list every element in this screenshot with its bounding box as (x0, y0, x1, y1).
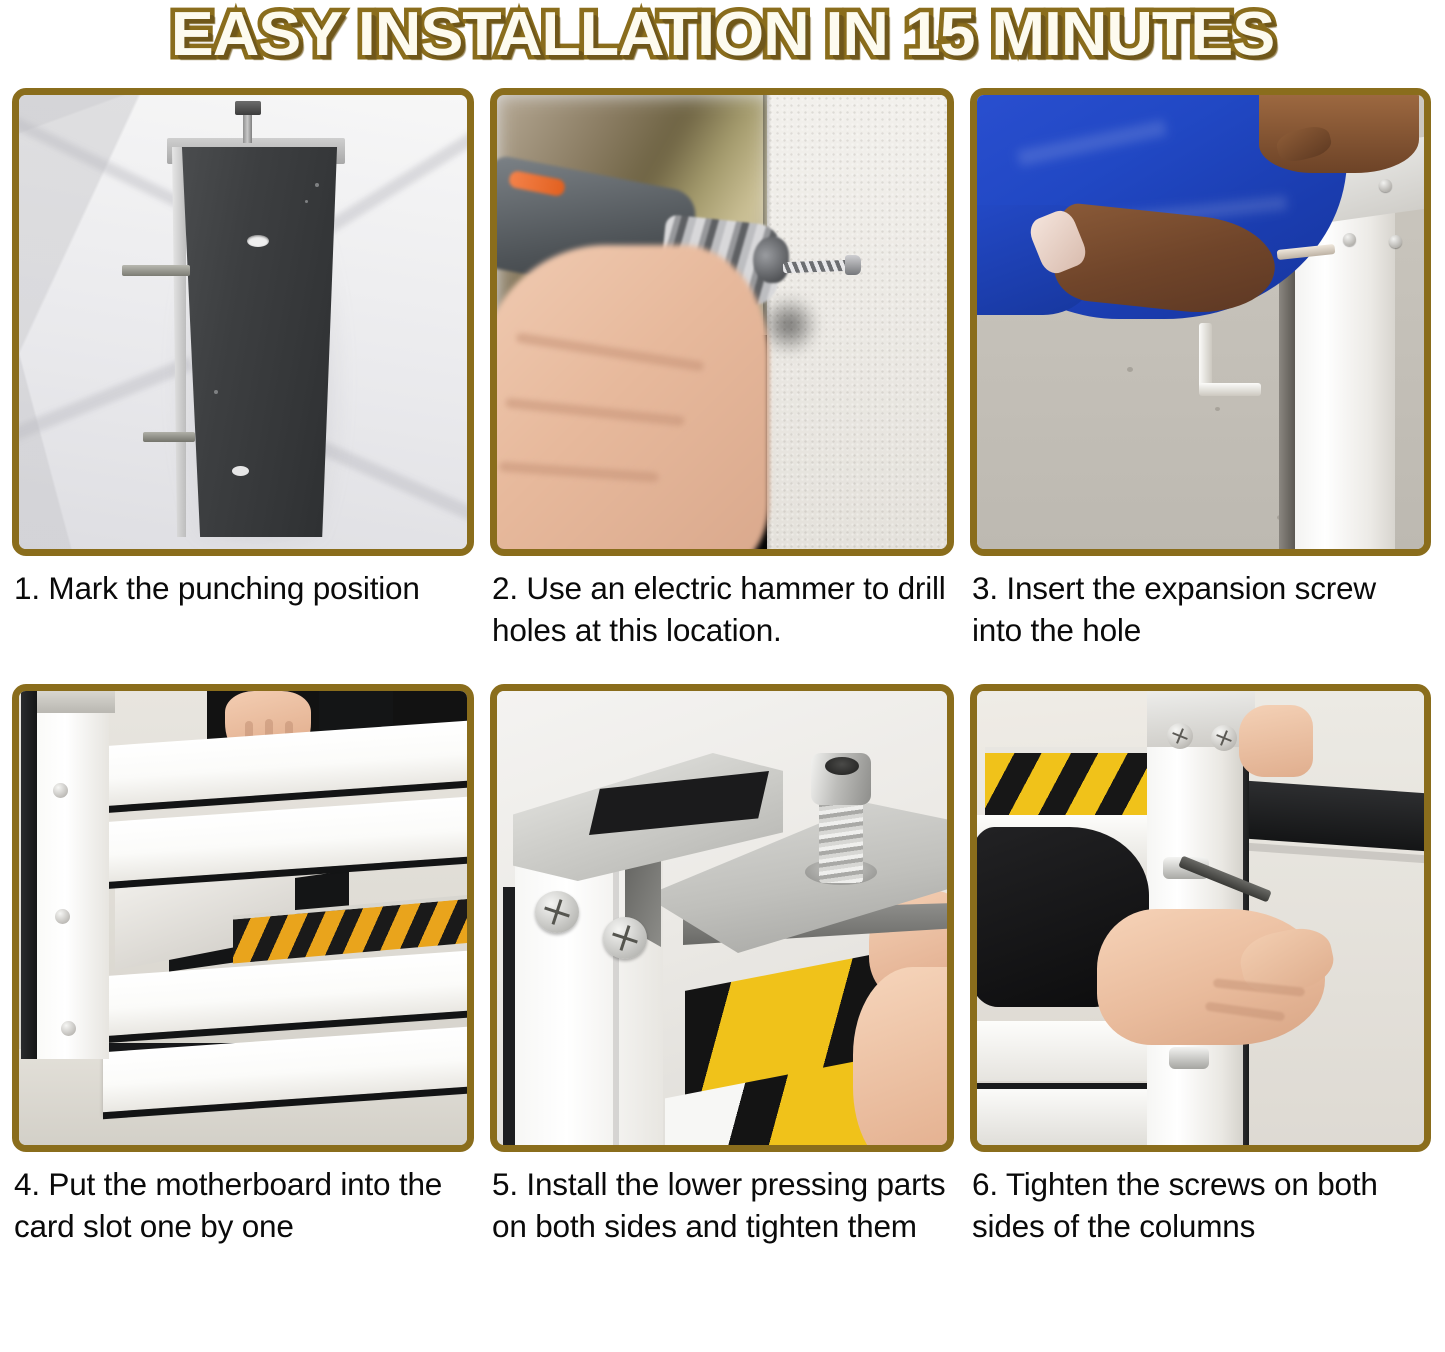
step-caption-5: 5. Install the lower pressing parts on b… (490, 1152, 954, 1247)
step-photo-frame-1 (12, 88, 474, 556)
step-card-1: 1. Mark the punching position (4, 88, 482, 684)
step-photo-2 (497, 95, 947, 549)
step-caption-3: 3. Insert the expansion screw into the h… (970, 556, 1431, 651)
step-card-5: 5. Install the lower pressing parts on b… (482, 684, 962, 1247)
step-card-3: 3. Insert the expansion screw into the h… (962, 88, 1439, 684)
step-caption-1: 1. Mark the punching position (12, 556, 474, 610)
step-caption-6: 6. Tighten the screws on both sides of t… (970, 1152, 1431, 1247)
step-photo-frame-5 (490, 684, 954, 1152)
step-card-2: 2. Use an electric hammer to drill holes… (482, 88, 962, 684)
step-caption-2: 2. Use an electric hammer to drill holes… (490, 556, 954, 651)
step-photo-frame-4 (12, 684, 474, 1152)
step-photo-1 (19, 95, 467, 549)
step-photo-frame-6 (970, 684, 1431, 1152)
title-banner: EASY INSTALLATION IN 15 MINUTES (0, 0, 1445, 88)
step-photo-frame-3 (970, 88, 1431, 556)
step-photo-5 (497, 691, 947, 1145)
step-photo-3 (977, 95, 1424, 549)
page-title: EASY INSTALLATION IN 15 MINUTES (171, 2, 1274, 69)
step-caption-4: 4. Put the motherboard into the card slo… (12, 1152, 474, 1247)
step-photo-frame-2 (490, 88, 954, 556)
step-card-4: 4. Put the motherboard into the card slo… (4, 684, 482, 1247)
step-photo-4 (19, 691, 467, 1145)
steps-grid: 1. Mark the punching position 2. (0, 88, 1445, 1247)
step-photo-6 (977, 691, 1424, 1145)
step-card-6: 6. Tighten the screws on both sides of t… (962, 684, 1439, 1247)
